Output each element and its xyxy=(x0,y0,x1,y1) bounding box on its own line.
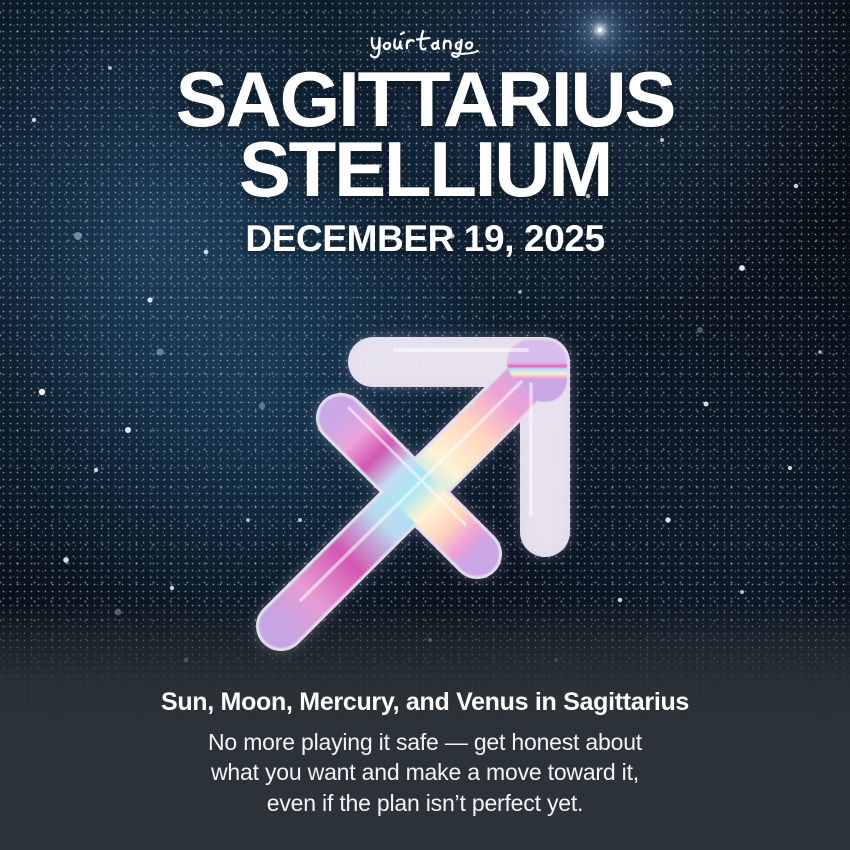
footer-block: Sun, Moon, Mercury, and Venus in Sagitta… xyxy=(0,688,850,818)
page-title: SAGITTARIUS STELLIUM xyxy=(0,64,850,204)
footer-body-line-3: even if the plan isn’t perfect yet. xyxy=(34,788,816,818)
footer-body: No more playing it safe — get honest abo… xyxy=(34,727,816,818)
event-date: DECEMBER 19, 2025 xyxy=(0,218,850,260)
header-block: SAGITTARIUS STELLIUM DECEMBER 19, 2025 xyxy=(0,24,850,260)
sagittarius-stellium-poster: SAGITTARIUS STELLIUM DECEMBER 19, 2025 xyxy=(0,0,850,850)
sagittarius-glyph-container xyxy=(245,300,605,660)
title-line-2: STELLIUM xyxy=(0,134,850,204)
sagittarius-zodiac-glyph xyxy=(245,300,605,660)
footer-subheading: Sun, Moon, Mercury, and Venus in Sagitta… xyxy=(34,688,816,717)
footer-body-line-1: No more playing it safe — get honest abo… xyxy=(34,727,816,757)
footer-body-line-2: what you want and make a move toward it, xyxy=(34,757,816,787)
